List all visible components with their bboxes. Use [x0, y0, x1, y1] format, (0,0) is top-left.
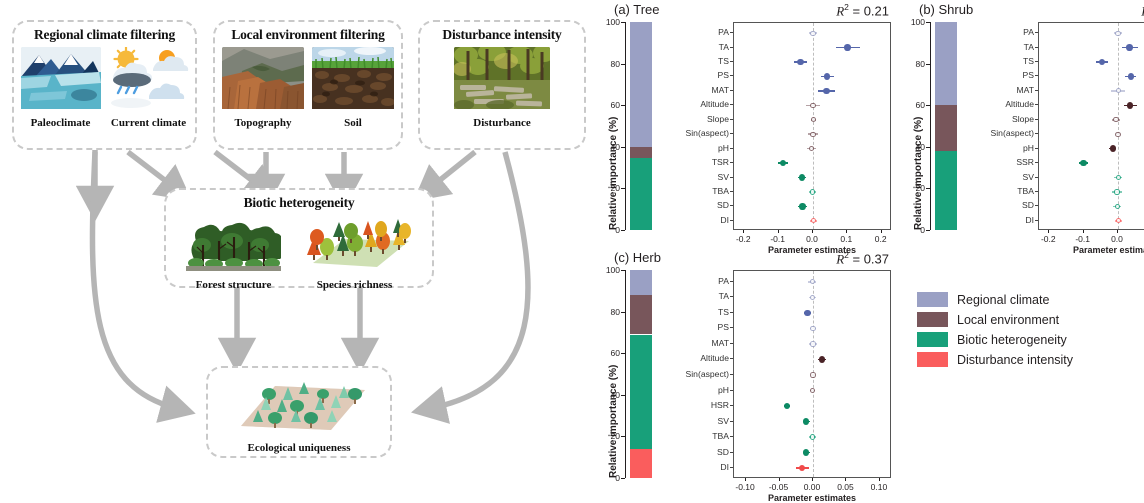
row-label: TS — [663, 56, 729, 66]
bar-y-tick-mark — [926, 105, 930, 106]
ecological-uniqueness-image — [219, 374, 379, 441]
species-richness-image — [297, 215, 412, 276]
data-point — [810, 341, 815, 346]
data-point — [799, 465, 805, 471]
legend-item-regional_climate: Regional climate — [917, 292, 1073, 307]
bar-y-tick-label: 40 — [903, 142, 925, 152]
data-point — [1115, 204, 1120, 209]
row-label: SV — [663, 416, 729, 426]
legend-swatch-regional_climate — [917, 292, 948, 307]
bar-y-tick-mark — [621, 147, 625, 148]
data-point — [810, 132, 815, 137]
panels-container: (a) TreeR2 = 0.21Relative importance (%)… — [600, 0, 1144, 482]
row-label: TBA — [968, 186, 1034, 196]
bar-y-tick-mark — [621, 395, 625, 396]
panel-shrub: (b) ShrubR2 = 0.33Relative importance (%… — [905, 0, 1144, 248]
panel-tree: (a) TreeR2 = 0.21Relative importance (%)… — [600, 0, 905, 248]
row-label: Altitude — [663, 353, 729, 363]
row-label: DI — [663, 215, 729, 225]
data-point — [810, 388, 815, 393]
zero-reference-line-tree — [813, 23, 814, 229]
bar-y-tick-label: 100 — [598, 265, 620, 275]
x-tick-mark — [846, 230, 847, 233]
data-point — [803, 449, 809, 455]
bar-y-tick-label: 40 — [598, 142, 620, 152]
concept-box-biotic-heterogeneity: Biotic heterogeneity — [164, 188, 434, 288]
row-label: Sin(aspect) — [663, 128, 729, 138]
bar-y-tick-label: 20 — [598, 183, 620, 193]
bar-segment-local_environment — [630, 295, 652, 335]
x-tick-mark — [1048, 230, 1049, 233]
row-label: MAT — [968, 85, 1034, 95]
data-point — [1080, 160, 1086, 166]
data-point — [804, 310, 810, 316]
data-point — [1115, 132, 1120, 137]
bar-y-tick-mark — [621, 22, 625, 23]
legend-label: Regional climate — [957, 293, 1049, 307]
row-label: pH — [968, 143, 1034, 153]
data-point — [844, 44, 850, 50]
image-caption: Disturbance — [473, 117, 530, 129]
data-point — [811, 117, 816, 122]
legend-item-biotic_heterogeneity: Biotic heterogeneity — [917, 332, 1073, 347]
r-squared-tree: R2 = 0.21 — [836, 2, 889, 19]
bar-y-tick-mark — [621, 64, 625, 65]
y-axis-label-tree: Relative importance (%) — [608, 117, 619, 230]
data-point — [810, 279, 815, 284]
concept-box-title: Biotic heterogeneity — [244, 195, 355, 211]
bar-y-tick-mark — [621, 478, 625, 479]
bar-y-tick-label: 100 — [903, 17, 925, 27]
data-point — [1115, 31, 1120, 36]
bar-segment-biotic_heterogeneity — [630, 158, 652, 230]
data-point — [799, 203, 805, 209]
legend-swatch-biotic_heterogeneity — [917, 332, 948, 347]
data-point — [819, 356, 825, 362]
bar-y-tick-mark — [621, 436, 625, 437]
bar-y-tick-label: 0 — [903, 225, 925, 235]
row-label: TA — [968, 42, 1034, 52]
data-point — [810, 103, 815, 108]
bar-y-tick-label: 60 — [598, 348, 620, 358]
row-label: Sin(aspect) — [663, 369, 729, 379]
bar-y-tick-mark — [926, 22, 930, 23]
panel-title-herb: (c) Herb — [614, 250, 661, 265]
disturbance-image — [454, 47, 550, 114]
concept-box-local-environment-filtering: Local environment filtering — [213, 20, 403, 150]
data-point — [803, 418, 809, 424]
bar-y-tick-mark — [926, 64, 930, 65]
x-axis-label-shrub: Parameter estimates — [1038, 245, 1144, 255]
legend-label: Disturbance intensity — [957, 353, 1073, 367]
row-label: TBA — [663, 186, 729, 196]
concept-box-disturbance-intensity: Disturbance intensity — [418, 20, 586, 150]
x-tick-mark — [812, 230, 813, 233]
row-label: TA — [663, 291, 729, 301]
concept-box-title: Regional climate filtering — [34, 27, 175, 43]
soil-image — [312, 47, 394, 114]
concept-box-ecological-uniqueness: Ecological uniqueness — [206, 366, 392, 458]
legend-item-disturbance_intensity: Disturbance intensity — [917, 352, 1073, 367]
bar-y-tick-label: 20 — [598, 431, 620, 441]
bar-y-tick-mark — [621, 105, 625, 106]
image-caption: Soil — [344, 117, 362, 129]
x-tick-mark — [745, 478, 746, 481]
legend-label: Local environment — [957, 313, 1059, 327]
row-label: SD — [968, 200, 1034, 210]
row-label: HSR — [663, 400, 729, 410]
image-caption: Ecological uniqueness — [248, 442, 351, 454]
bar-segment-local_environment — [935, 105, 957, 151]
stacked-bar-herb — [630, 270, 652, 478]
row-label: TS — [663, 307, 729, 317]
data-point — [810, 326, 815, 331]
legend: Regional climateLocal environmentBiotic … — [917, 292, 1073, 372]
image-caption: Topography — [234, 117, 291, 129]
x-axis-label-herb: Parameter estimates — [733, 493, 891, 503]
x-tick-mark — [812, 478, 813, 481]
bar-y-tick-mark — [926, 230, 930, 231]
panel-title-tree: (a) Tree — [614, 2, 660, 17]
figure-root: Regional climate filtering — [0, 0, 1144, 482]
x-tick-label: 0.1 — [1131, 234, 1144, 244]
panel-herb: (c) HerbR2 = 0.37Relative importance (%)… — [600, 248, 905, 496]
concept-box-title: Local environment filtering — [231, 27, 384, 43]
x-tick-mark — [881, 230, 882, 233]
bar-y-tick-label: 20 — [903, 183, 925, 193]
data-point — [1127, 102, 1133, 108]
x-tick-label: 0.10 — [859, 482, 899, 492]
legend-swatch-local_environment — [917, 312, 948, 327]
legend-label: Biotic heterogeneity — [957, 333, 1067, 347]
row-label: PA — [663, 27, 729, 37]
row-label: MAT — [663, 85, 729, 95]
row-label: Slope — [663, 114, 729, 124]
forest-plot-tree — [733, 22, 891, 230]
row-label: PS — [968, 70, 1034, 80]
row-label: Altitude — [663, 99, 729, 109]
bar-y-tick-mark — [926, 188, 930, 189]
forest-plot-shrub — [1038, 22, 1144, 230]
stacked-bar-shrub — [935, 22, 957, 230]
bar-y-tick-label: 40 — [598, 390, 620, 400]
data-point — [811, 218, 816, 223]
bar-y-axis-line-herb — [625, 270, 626, 478]
bar-y-tick-label: 80 — [598, 307, 620, 317]
x-tick-mark — [779, 478, 780, 481]
bar-y-axis-line-tree — [625, 22, 626, 230]
data-point — [784, 403, 790, 409]
bar-y-tick-mark — [621, 188, 625, 189]
row-label: SV — [968, 172, 1034, 182]
row-label: TS — [968, 56, 1034, 66]
bar-y-tick-mark — [621, 312, 625, 313]
forest-structure-image — [186, 215, 281, 276]
x-tick-mark — [1117, 230, 1118, 233]
bar-y-tick-label: 80 — [598, 59, 620, 69]
row-label: DI — [663, 462, 729, 472]
bar-segment-local_environment — [630, 147, 652, 158]
data-point — [1116, 88, 1121, 93]
data-point — [799, 174, 805, 180]
row-label: TBA — [663, 431, 729, 441]
row-label: Altitude — [968, 99, 1034, 109]
concept-box-regional-climate-filtering: Regional climate filtering — [12, 20, 197, 150]
bar-segment-regional_climate — [630, 270, 652, 295]
data-point — [1116, 175, 1121, 180]
current-climate-image — [109, 47, 189, 114]
row-label: PA — [663, 276, 729, 286]
row-label: PS — [663, 70, 729, 80]
x-tick-mark — [879, 478, 880, 481]
row-label: MAT — [663, 338, 729, 348]
paleoclimate-image — [21, 47, 101, 114]
bar-y-tick-label: 0 — [598, 225, 620, 235]
legend-item-local_environment: Local environment — [917, 312, 1073, 327]
x-tick-mark — [743, 230, 744, 233]
image-caption: Paleoclimate — [31, 117, 91, 129]
bar-y-tick-label: 80 — [903, 59, 925, 69]
concept-box-title: Disturbance intensity — [442, 27, 561, 43]
row-label: Sin(aspect) — [968, 128, 1034, 138]
row-label: pH — [663, 385, 729, 395]
row-label: SD — [663, 447, 729, 457]
stacked-bar-tree — [630, 22, 652, 230]
data-point — [823, 88, 829, 94]
bar-y-tick-mark — [621, 230, 625, 231]
row-label: Slope — [968, 114, 1034, 124]
data-point — [1113, 117, 1118, 122]
data-point — [810, 295, 815, 300]
data-point — [810, 372, 815, 377]
row-label: pH — [663, 143, 729, 153]
data-point — [1116, 218, 1121, 223]
x-tick-label: 0.2 — [861, 234, 901, 244]
bar-y-tick-mark — [621, 353, 625, 354]
row-label: TA — [663, 42, 729, 52]
row-label: PA — [968, 27, 1034, 37]
topography-image — [222, 47, 304, 114]
bar-y-tick-label: 60 — [598, 100, 620, 110]
image-caption: Species richness — [317, 279, 392, 291]
x-tick-mark — [778, 230, 779, 233]
bar-segment-regional_climate — [630, 22, 652, 147]
x-tick-mark — [1083, 230, 1084, 233]
r-squared-herb: R2 = 0.37 — [836, 250, 889, 267]
bar-segment-biotic_heterogeneity — [630, 335, 652, 449]
row-label: SSR — [968, 157, 1034, 167]
data-point — [1126, 44, 1132, 50]
forest-plot-herb — [733, 270, 891, 478]
data-point — [1110, 145, 1116, 151]
row-label: TSR — [663, 157, 729, 167]
bar-y-tick-mark — [621, 270, 625, 271]
data-point — [797, 59, 803, 65]
legend-swatch-disturbance_intensity — [917, 352, 948, 367]
panel-title-shrub: (b) Shrub — [919, 2, 973, 17]
bar-y-axis-line-shrub — [930, 22, 931, 230]
row-label: SV — [663, 172, 729, 182]
bar-y-tick-label: 100 — [598, 17, 620, 27]
image-caption: Current climate — [111, 117, 186, 129]
conceptual-diagram: Regional climate filtering — [0, 0, 600, 482]
bar-y-tick-mark — [926, 147, 930, 148]
data-point — [1128, 73, 1134, 79]
bar-segment-disturbance_intensity — [630, 449, 652, 478]
data-point — [824, 73, 830, 79]
row-label: SD — [663, 200, 729, 210]
data-point — [1099, 59, 1105, 65]
bar-y-tick-label: 60 — [903, 100, 925, 110]
y-axis-label-shrub: Relative importance (%) — [913, 117, 924, 230]
y-axis-label-herb: Relative importance (%) — [608, 365, 619, 478]
data-point — [810, 189, 815, 194]
bar-segment-regional_climate — [935, 22, 957, 105]
x-tick-mark — [845, 478, 846, 481]
data-point — [780, 160, 786, 166]
bar-segment-biotic_heterogeneity — [935, 151, 957, 230]
zero-reference-line-shrub — [1118, 23, 1119, 229]
image-caption: Forest structure — [196, 279, 272, 291]
row-label: DI — [968, 215, 1034, 225]
row-label: PS — [663, 322, 729, 332]
data-point — [1114, 189, 1119, 194]
data-point — [810, 31, 815, 36]
data-point — [810, 434, 815, 439]
